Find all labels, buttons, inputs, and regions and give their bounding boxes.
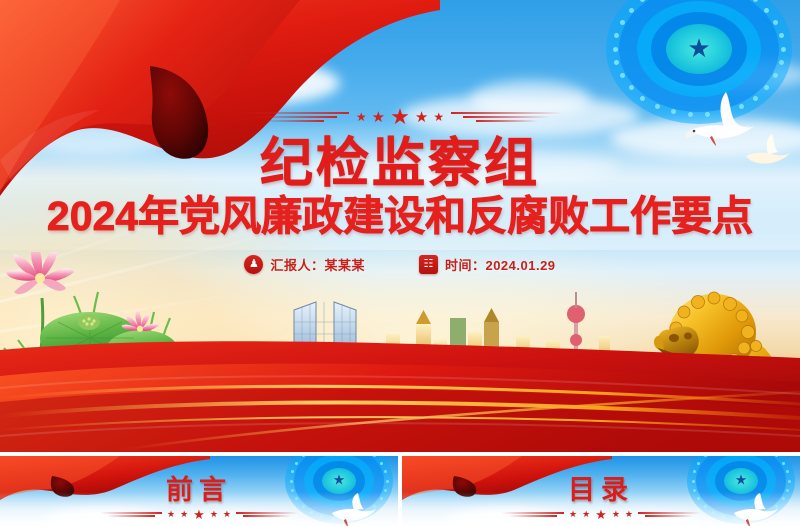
panel-label-wrap: 前言 ★ ★ ★ ★ ★: [0, 456, 398, 526]
panel-contents[interactable]: ★ 目录: [402, 456, 800, 526]
star-icon: ★: [582, 510, 590, 519]
hero-slide: ★: [0, 0, 800, 452]
red-ribbon-band: [0, 332, 800, 452]
panel-label-wrap: 目录 ★ ★ ★ ★ ★: [402, 456, 800, 526]
star-icon: ★: [612, 510, 620, 519]
star-icon: ★: [356, 111, 367, 123]
star-icon: ★: [210, 510, 218, 519]
star-icon: ★: [180, 510, 188, 519]
star-icon: ★: [433, 111, 444, 123]
five-stars: ★ ★ ★ ★ ★: [356, 106, 444, 128]
star-divider-top: ★ ★ ★ ★ ★: [0, 104, 800, 130]
star-divider: ★ ★ ★ ★ ★: [502, 508, 700, 521]
panel-title: 目录: [568, 468, 634, 507]
panel-title: 前言: [166, 468, 232, 507]
star-icon: ★: [372, 110, 385, 125]
calendar-icon: ☷: [419, 255, 438, 274]
presenter-meta: ♟ 汇报人：某某某: [244, 255, 365, 274]
person-icon: ♟: [244, 255, 263, 274]
star-icon: ★: [625, 510, 633, 519]
star-icon: ★: [223, 510, 231, 519]
slide-page: ★: [0, 0, 800, 526]
star-icon: ★: [390, 106, 410, 128]
star-icon: ★: [167, 510, 175, 519]
panel-foreword[interactable]: ★: [0, 456, 398, 526]
star-icon: ★: [193, 508, 205, 521]
page-title: 纪检监察组: [0, 136, 800, 192]
star-divider: ★ ★ ★ ★ ★: [100, 508, 298, 521]
meta-row: ♟ 汇报人：某某某 ☷ 时间：2024.01.29: [0, 255, 800, 274]
divider-lines-right: [451, 112, 563, 122]
star-icon: ★: [595, 508, 607, 521]
bottom-panel-row: ★: [0, 456, 800, 526]
medallion-star-icon: ★: [687, 33, 710, 63]
date-label: 时间：2024.01.29: [445, 255, 556, 274]
page-subtitle: 2024年党风廉政建设和反腐败工作要点: [0, 194, 800, 239]
divider-lines-left: [237, 112, 349, 122]
title-block: ★ ★ ★ ★ ★ 纪检监察组 2024年党风廉政建设和反腐败工作要点 ♟ 汇报…: [0, 104, 800, 274]
date-meta: ☷ 时间：2024.01.29: [419, 255, 556, 274]
star-icon: ★: [569, 510, 577, 519]
presenter-label: 汇报人：某某某: [270, 255, 365, 274]
star-icon: ★: [415, 110, 428, 125]
